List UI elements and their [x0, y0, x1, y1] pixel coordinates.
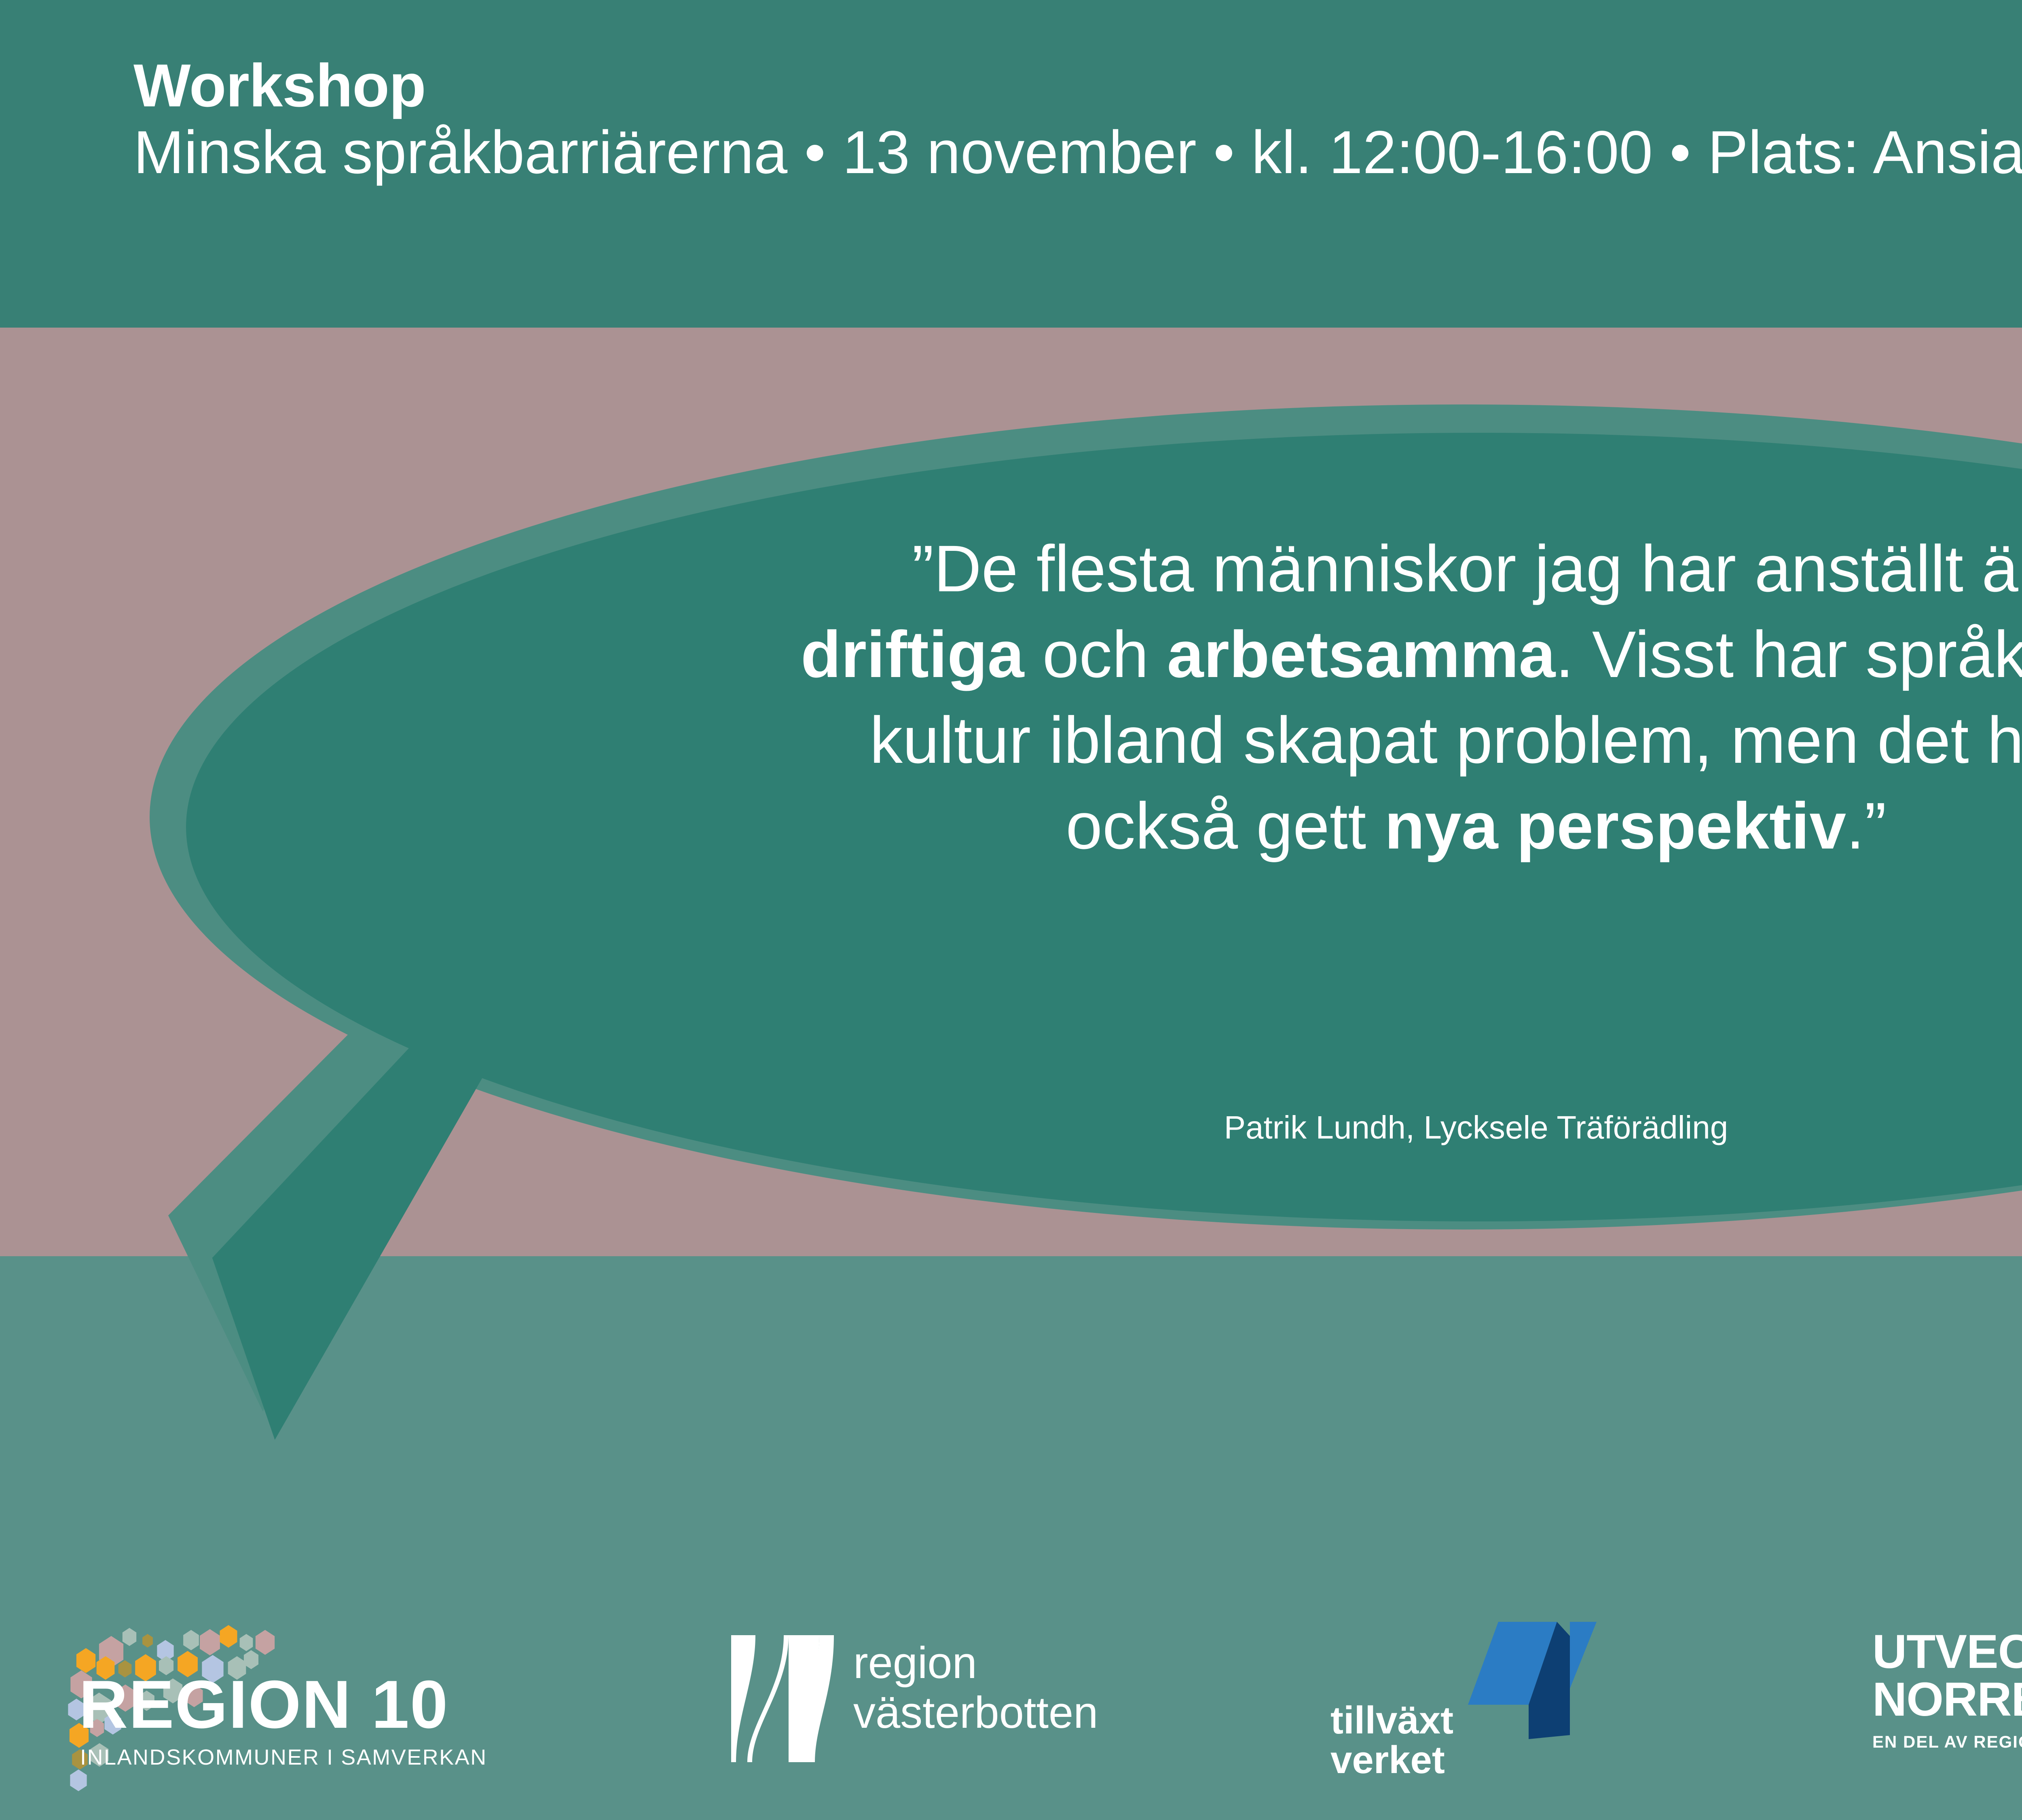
tillvaxtverket-line1: tillväxt — [1330, 1701, 1453, 1740]
quote-line-4-head: också gett — [1066, 789, 1384, 863]
region10-hexagon-shape — [198, 1629, 222, 1655]
quote-line-3: kultur ibland skapat problem, men det ha… — [283, 697, 2022, 783]
quote-line-2: driftiga och arbetsamma. Visst har språk… — [283, 612, 2022, 697]
quote-attribution: Patrik Lundh, Lycksele Träförädling — [283, 1109, 2022, 1146]
tillvaxtverket-line2: verket — [1330, 1740, 1453, 1780]
quote-bold-driftiga: driftiga — [801, 617, 1024, 691]
region10-hexagon-shape — [69, 1769, 88, 1791]
region10-hexagon-shape — [218, 1625, 239, 1648]
region-vasterbotten-wave-icon — [728, 1632, 837, 1765]
quote-line-2-tail: . Visst har språk och — [1555, 617, 2022, 691]
header: Workshop Minska språkbarriärerna • 13 no… — [133, 53, 2022, 186]
region10-tagline: INLANDSKOMMUNER I SAMVERKAN — [80, 1746, 487, 1768]
quote-line-2-mid: och — [1024, 617, 1167, 691]
region-vasterbotten-line1: region — [853, 1638, 1098, 1688]
header-subtitle: Minska språkbarriärerna • 13 november • … — [133, 118, 2022, 186]
tillvaxtverket-wordmark: tillväxt verket — [1330, 1701, 1453, 1780]
quote-bold-nya-perspektiv: nya perspektiv — [1385, 789, 1846, 863]
quote-line-4-tail: .” — [1846, 789, 1887, 863]
quote-line-1: ”De flesta människor jag har anställt är — [283, 526, 2022, 612]
region10-hexagon-shape — [239, 1634, 254, 1651]
region-vasterbotten-line2: västerbotten — [853, 1688, 1098, 1737]
partner-logo-row: REGION 10 INLANDSKOMMUNER I SAMVERKAN re… — [0, 1610, 2022, 1804]
logo-region-vasterbotten: region västerbotten — [728, 1632, 1233, 1778]
utveckla-norrbotten-line1: UTVECKLA — [1872, 1628, 2022, 1676]
logo-region10: REGION 10 INLANDSKOMMUNER I SAMVERKAN — [61, 1618, 594, 1788]
region10-hexagon-shape — [182, 1630, 200, 1650]
region10-hexagon-shape — [142, 1634, 154, 1648]
logo-utveckla-norrbotten: UTVECKLA NORRBOTTEN EN DEL AV REGION NOR… — [1872, 1628, 2022, 1778]
quote-bold-arbetsamma: arbetsamma — [1167, 617, 1555, 691]
quote-line-4: också gett nya perspektiv.” — [283, 783, 2022, 869]
quote-block: ”De flesta människor jag har anställt är… — [283, 526, 2022, 869]
logo-tillvaxtverket: tillväxt verket — [1330, 1614, 1638, 1784]
utveckla-norrbotten-line2: NORRBOTTEN — [1872, 1676, 2022, 1723]
page-title: Workshop — [133, 53, 2022, 118]
region10-wordmark: REGION 10 — [79, 1670, 448, 1738]
poster-canvas: Workshop Minska språkbarriärerna • 13 no… — [0, 0, 2022, 1820]
region10-hexagon-shape — [121, 1628, 137, 1646]
region10-hexagon-shape — [254, 1630, 276, 1655]
utveckla-norrbotten-tagline: EN DEL AV REGION NORRBOTTEN — [1872, 1732, 2022, 1752]
region-vasterbotten-wordmark: region västerbotten — [853, 1638, 1098, 1737]
